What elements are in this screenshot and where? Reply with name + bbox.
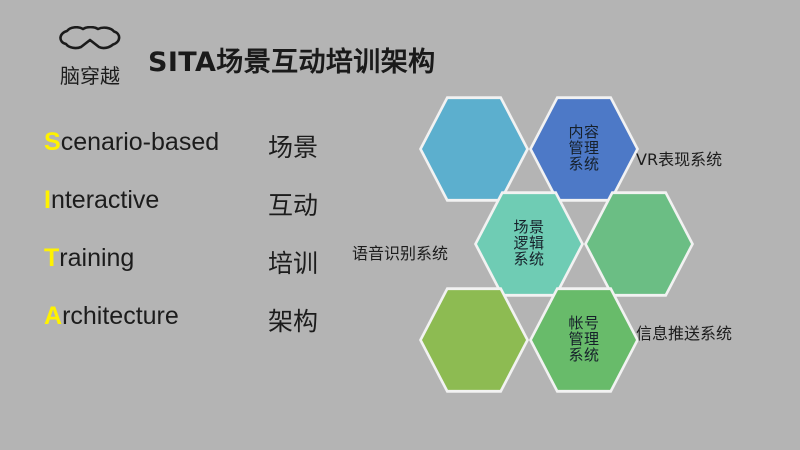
hex-account-management-label: 帐号 管理 系统 — [568, 316, 599, 364]
hex-bottom-left[interactable] — [422, 288, 526, 392]
hex-mid-right[interactable] — [587, 192, 691, 296]
hex-content-management[interactable]: 内容 管理 系统 — [532, 97, 636, 201]
hex-content-management-label: 内容 管理 系统 — [568, 125, 599, 173]
hex-scene-logic-label: 场景 逻辑 系统 — [513, 220, 544, 268]
callout-voice: 语音识别系统 — [352, 240, 448, 264]
hex-account-management[interactable]: 帐号 管理 系统 — [532, 288, 636, 392]
hex-top-left[interactable] — [422, 97, 526, 201]
callout-push: 信息推送系统 — [636, 320, 732, 344]
callout-vr: VR表现系统 — [636, 146, 722, 170]
slide-canvas: 脑穿越 SITA场景互动培训架构 Scenario-based 场景 Inter… — [0, 0, 800, 450]
hex-scene-logic[interactable]: 场景 逻辑 系统 — [477, 192, 581, 296]
hexagon-cluster: 内容 管理 系统 场景 逻辑 系统 帐号 管理 系统 VR表现系统 语音识别系统… — [0, 0, 800, 450]
